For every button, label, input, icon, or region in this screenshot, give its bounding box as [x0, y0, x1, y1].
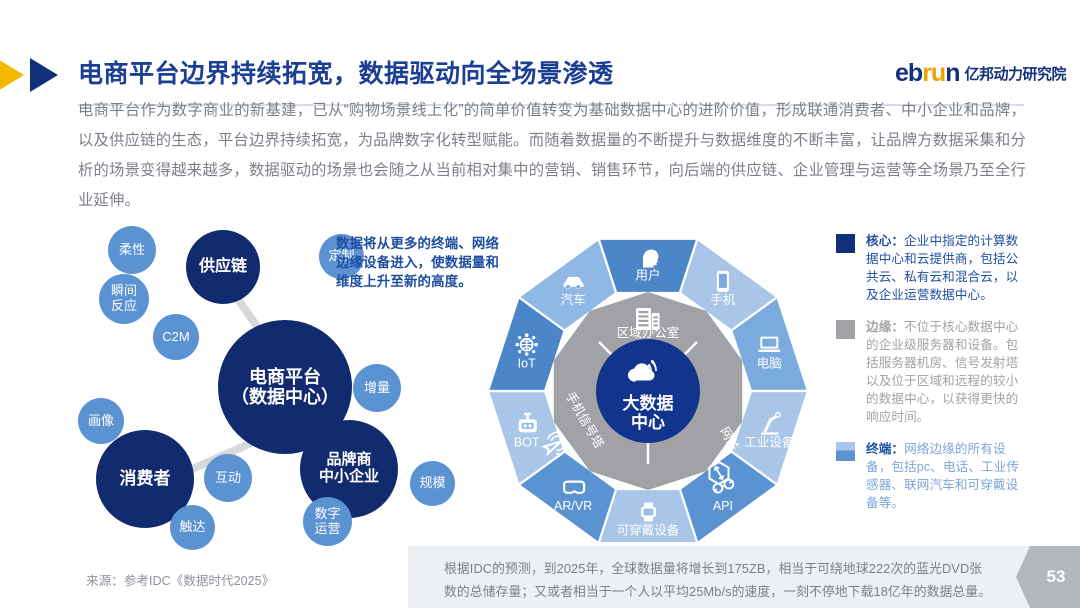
- legend-panel: 核心：企业中指定的计算数据中心和云提供商，包括公共云、私有云和混合云，以及企业运…: [836, 232, 1028, 526]
- bubble-label: 互动: [215, 471, 241, 486]
- octagon-segment-label-1: 手机: [710, 293, 736, 307]
- bubble-label: 电商平台（数据中心）: [231, 367, 339, 407]
- header-arrows-icon: [0, 54, 82, 96]
- octagon-segment-label-7: BOT: [514, 435, 540, 449]
- bubble-label: 数字运营: [314, 507, 340, 536]
- octagon-segment-label-8: IoT: [518, 357, 536, 371]
- bottom-banner: 根据IDC的预测，到2025年，全球数据量将增长到175ZB，相当于可绕地球22…: [408, 546, 1080, 608]
- bubble-label: 品牌商中小企业: [319, 452, 379, 486]
- banner-line-2: 数的总储存量；又或者相当于一个人以平均25Mb/s的速度，一刻不停地下载18亿年…: [444, 580, 1024, 603]
- page-title: 电商平台边界持续拓宽，数据驱动向全场景渗透: [78, 54, 614, 90]
- octagon-segment-label-0: 用户: [635, 268, 660, 283]
- bubble-sub-2[interactable]: 瞬间反应: [99, 274, 149, 324]
- bubble-sub-6[interactable]: 触达: [170, 505, 215, 550]
- bubble-label: 瞬间反应: [111, 284, 137, 313]
- logo-text-ru: ru: [922, 59, 945, 87]
- source-note: 来源：参考IDC《数据时代2025》: [86, 570, 274, 589]
- octagon-segment-label-9: 汽车: [561, 292, 586, 307]
- legend-term-terminal: 终端：: [866, 442, 904, 456]
- ebrun-logo: ebrun 亿邦动力研究院: [895, 60, 1066, 86]
- bubble-label: 画像: [88, 414, 114, 429]
- octagon-segment-label-6: AR/VR: [554, 499, 592, 513]
- laptop-icon: [758, 337, 780, 352]
- bubble-label: 柔性: [119, 243, 145, 258]
- iot-network-icon: [516, 333, 538, 355]
- bubble-sub-9[interactable]: 数字运营: [303, 497, 352, 546]
- octagon-segment-label-4: API: [713, 499, 733, 513]
- bubble-label: 规模: [419, 476, 445, 491]
- legend-item-terminal: 终端：网络边缘的所有设备，包括pc、电话、工业传感器、联网汽车和可穿戴设备等。: [836, 440, 1028, 512]
- octagon-diagram: 用户手机电脑工业设备API可穿戴设备AR/VRBOTIoT汽车 区域办公室网关手…: [483, 226, 813, 556]
- octagon-segment-label-3: 工业设备: [744, 434, 795, 449]
- legend-term-core: 核心：: [866, 234, 904, 248]
- smartphone-icon: [717, 271, 729, 292]
- bubble-label: 触达: [179, 520, 205, 535]
- banner-line-1: 根据IDC的预测，到2025年，全球数据量将增长到175ZB，相当于可绕地球22…: [444, 557, 1024, 580]
- legend-item-core: 核心：企业中指定的计算数据中心和云提供商，包括公共云、私有云和混合云，以及企业运…: [836, 232, 1028, 304]
- bubble-sub-7[interactable]: 增量: [353, 364, 401, 412]
- bubble-sub-3[interactable]: C2M: [153, 314, 199, 360]
- slide-root: 电商平台边界持续拓宽，数据驱动向全场景渗透 ebrun 亿邦动力研究院 电商平台…: [0, 0, 1080, 608]
- legend-text-edge: 不位于核心数据中心的企业级服务器和设备。包括服务器机房、信号发射塔以及位于区域和…: [866, 320, 1018, 424]
- bubble-main-0[interactable]: 供应链: [186, 230, 260, 304]
- user-head-icon: [643, 250, 658, 268]
- bubble-sub-4[interactable]: 画像: [78, 398, 124, 444]
- bubble-label: C2M: [162, 330, 189, 345]
- page-number-badge: 53: [1016, 546, 1080, 608]
- legend-swatch-core-icon: [836, 234, 855, 253]
- body-paragraph: 电商平台作为数字商业的新基建，已从“购物场景线上化”的简单价值转变为基础数据中心…: [78, 96, 1026, 216]
- legend-item-edge: 边缘：不位于核心数据中心的企业级服务器和设备。包括服务器机房、信号发射塔以及位于…: [836, 318, 1028, 426]
- logo-text-n: n: [945, 59, 959, 87]
- legend-swatch-terminal-icon: [836, 442, 855, 461]
- octagon-core-label-2: 中心: [631, 412, 665, 432]
- logo-text-eb: eb: [895, 59, 922, 87]
- slide-header: 电商平台边界持续拓宽，数据驱动向全场景渗透 ebrun 亿邦动力研究院: [0, 24, 1080, 76]
- bubble-sub-0[interactable]: 柔性: [108, 226, 156, 274]
- bubble-label: 增量: [364, 381, 390, 396]
- legend-swatch-edge-icon: [836, 320, 855, 339]
- octagon-segment-label-5: 可穿戴设备: [617, 523, 680, 538]
- legend-term-edge: 边缘：: [866, 320, 904, 334]
- bubble-label: 供应链: [199, 258, 247, 276]
- bubble-sub-8[interactable]: 规模: [410, 461, 455, 506]
- bubble-sub-5[interactable]: 互动: [204, 454, 252, 502]
- octagon-segment-label-2: 电脑: [757, 357, 782, 371]
- octagon-core-label-1: 大数据: [623, 393, 674, 413]
- logo-text-cn: 亿邦动力研究院: [964, 63, 1066, 84]
- bubble-label: 消费者: [120, 469, 171, 488]
- banner-text: 根据IDC的预测，到2025年，全球数据量将增长到175ZB，相当于可绕地球22…: [444, 557, 1024, 603]
